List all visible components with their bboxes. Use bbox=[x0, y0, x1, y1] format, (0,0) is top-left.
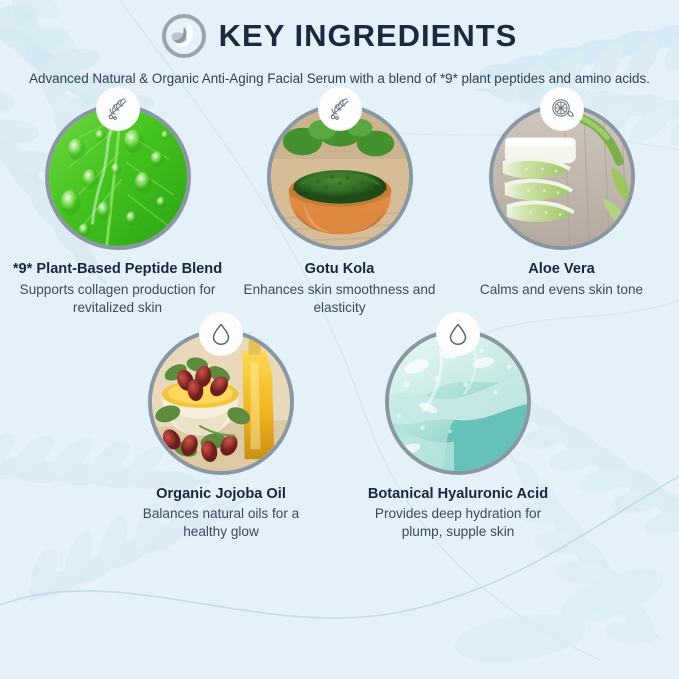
water-droplet-icon-badge bbox=[437, 313, 479, 355]
ingredient-description: Enhances skin smoothness and elasticity bbox=[242, 281, 438, 317]
leaf-branch-icon bbox=[327, 96, 353, 122]
ingredient-media bbox=[385, 329, 531, 475]
ingredient-title: Aloe Vera bbox=[528, 260, 595, 278]
leaf-branch-icon bbox=[105, 96, 131, 122]
ingredient-card-gotu-kola: Gotu Kola Enhances skin smoothness and e… bbox=[234, 104, 446, 316]
ingredient-title: Gotu Kola bbox=[305, 260, 375, 278]
ingredient-media bbox=[148, 329, 294, 475]
ingredient-description: Provides deep hydration for plump, suppl… bbox=[360, 505, 556, 541]
water-droplet-icon bbox=[445, 321, 471, 347]
ingredient-card-hyaluronic-acid: Botanical Hyaluronic Acid Provides deep … bbox=[351, 329, 566, 541]
ingredient-description: Balances natural oils for a healthy glow bbox=[123, 505, 319, 541]
water-droplet-icon bbox=[208, 321, 234, 347]
page-header: KEY INGREDIENTS Advanced Natural & Organ… bbox=[0, 0, 679, 88]
citrus-slice-icon-badge bbox=[541, 88, 583, 130]
water-droplet-icon-badge bbox=[200, 313, 242, 355]
ingredient-media bbox=[45, 104, 191, 250]
citrus-slice-icon bbox=[549, 96, 575, 122]
ingredients-row-bottom: Organic Jojoba Oil Balances natural oils… bbox=[0, 329, 679, 541]
ingredient-media bbox=[267, 104, 413, 250]
ingredient-title: *9* Plant-Based Peptide Blend bbox=[13, 260, 222, 278]
ingredient-media bbox=[489, 104, 635, 250]
ingredient-title: Botanical Hyaluronic Acid bbox=[368, 485, 548, 503]
page-subtitle: Advanced Natural & Organic Anti-Aging Fa… bbox=[27, 69, 652, 88]
ingredient-card-aloe-vera: Aloe Vera Calms and evens skin tone bbox=[456, 104, 668, 316]
ingredient-description: Supports collagen production for revital… bbox=[20, 281, 216, 317]
leaf-branch-icon-badge bbox=[97, 88, 139, 130]
title-row: KEY INGREDIENTS bbox=[0, 14, 679, 58]
ingredient-card-peptide-blend: *9* Plant-Based Peptide Blend Supports c… bbox=[12, 104, 224, 316]
page-title: KEY INGREDIENTS bbox=[219, 18, 518, 54]
leaf-droplet-logo-icon bbox=[162, 14, 206, 58]
ingredient-description: Calms and evens skin tone bbox=[480, 281, 643, 299]
ingredient-card-jojoba-oil: Organic Jojoba Oil Balances natural oils… bbox=[114, 329, 329, 541]
ingredients-row-top: *9* Plant-Based Peptide Blend Supports c… bbox=[0, 104, 679, 316]
leaf-branch-icon-badge bbox=[319, 88, 361, 130]
ingredient-title: Organic Jojoba Oil bbox=[156, 485, 286, 503]
